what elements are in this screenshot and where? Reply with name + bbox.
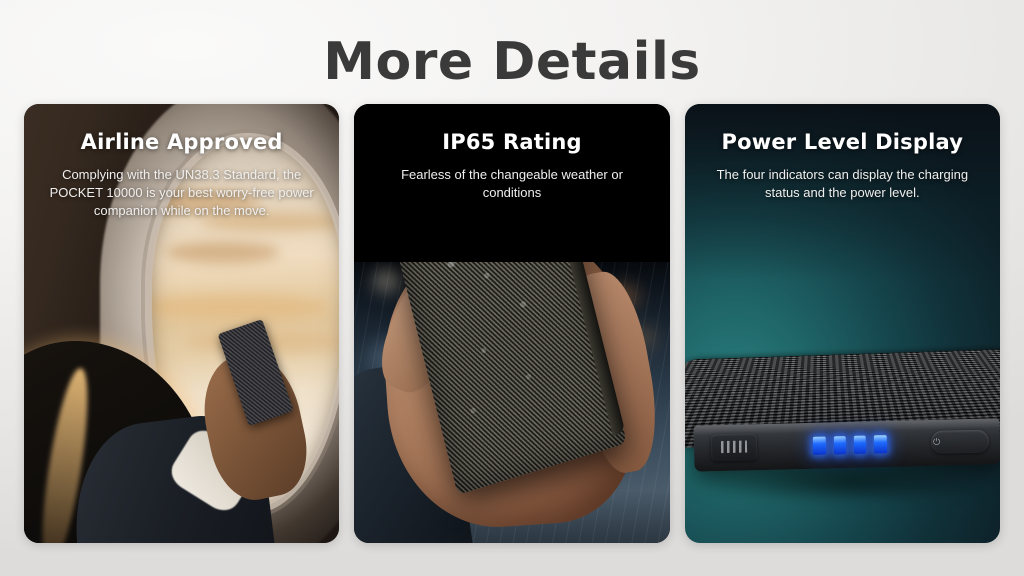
feature-card-airline-approved[interactable]: Airline Approved Complying with the UN38… [24,104,339,543]
led-indicator-3 [854,436,867,455]
feature-card-power-level-display[interactable]: ⏻ Power Level Display The four indicator… [685,104,1000,543]
led-indicator-2 [833,436,846,455]
gradient-overlay [685,104,1000,280]
led-indicator-group [813,433,887,457]
power-bank-side-face: ⏻ [694,419,1000,473]
black-header-backdrop [354,104,669,262]
power-icon: ⏻ [933,438,940,447]
port-grip-block [711,434,758,462]
feature-card-ip65-rating[interactable]: IP65 Rating Fearless of the changeable w… [354,104,669,543]
led-indicator-1 [813,437,826,456]
power-button[interactable]: ⏻ [931,430,990,454]
page-title: More Details [0,36,1024,88]
port-bars-icon [721,441,747,453]
feature-card-grid: Airline Approved Complying with the UN38… [24,104,1000,543]
led-indicator-4 [874,435,887,454]
